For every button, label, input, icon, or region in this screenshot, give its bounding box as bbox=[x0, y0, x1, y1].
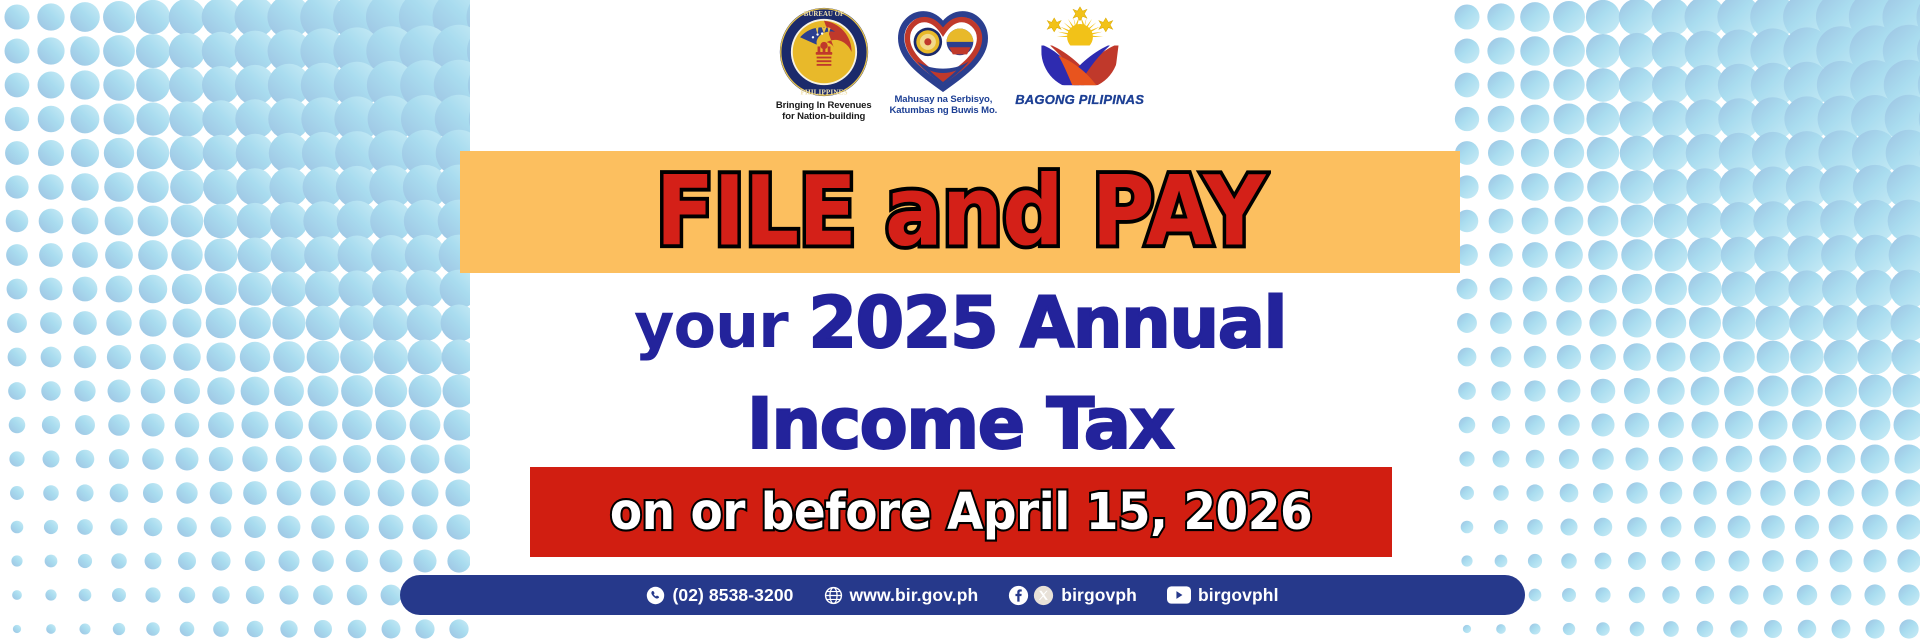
contact-social[interactable]: birgovph bbox=[1008, 585, 1137, 606]
phone-number: (02) 8538-3200 bbox=[672, 585, 793, 606]
logo-mahusay: Mahusay na Serbisyo, Katumbas ng Buwis M… bbox=[890, 6, 998, 116]
logo-bagong-pilipinas: BAGONG PILIPINAS bbox=[1015, 6, 1144, 105]
svg-text:PHILIPPINES: PHILIPPINES bbox=[800, 87, 847, 96]
social-handle: birgovph bbox=[1061, 585, 1137, 606]
bagong-pilipinas-logo bbox=[1032, 6, 1128, 92]
contact-youtube[interactable]: birgovphl bbox=[1167, 585, 1279, 606]
youtube-handle: birgovphl bbox=[1198, 585, 1279, 606]
headline-band: FILE and PAY bbox=[460, 151, 1460, 273]
headline-text: FILE and PAY bbox=[656, 164, 1265, 260]
subheading: your 2025 Annual Income Tax bbox=[0, 282, 1920, 484]
social-icon-group bbox=[1008, 585, 1054, 606]
bir-seal-logo: BUREAU OF PHILIPPINES bbox=[778, 6, 870, 98]
svg-text:BUREAU OF: BUREAU OF bbox=[804, 11, 844, 18]
logo-bir-seal: BUREAU OF PHILIPPINES Bringing In Revenu… bbox=[776, 6, 872, 122]
logo-caption-bagong-pilipinas: BAGONG PILIPINAS bbox=[1015, 94, 1144, 105]
mahusay-na-serbisyo-heart-logo bbox=[894, 6, 992, 92]
website-url: www.bir.gov.ph bbox=[850, 585, 979, 606]
subheading-year-annual: 2025 Annual bbox=[808, 282, 1286, 364]
contact-website[interactable]: www.bir.gov.ph bbox=[824, 585, 979, 606]
contact-phone[interactable]: (02) 8538-3200 bbox=[646, 585, 793, 606]
deadline-banner: on or before April 15, 2026 bbox=[530, 467, 1392, 557]
logo-caption-bir: Bringing In Revenues for Nation-building bbox=[776, 100, 872, 122]
deadline-text: on or before April 15, 2026 bbox=[610, 482, 1312, 541]
logo-caption-mahusay: Mahusay na Serbisyo, Katumbas ng Buwis M… bbox=[890, 94, 998, 116]
logo-row: BUREAU OF PHILIPPINES Bringing In Revenu… bbox=[0, 6, 1920, 122]
subheading-line-1: your 2025 Annual bbox=[0, 282, 1920, 383]
bir-announcement-banner: BUREAU OF PHILIPPINES Bringing In Revenu… bbox=[0, 0, 1920, 640]
facebook-icon[interactable] bbox=[1008, 585, 1029, 606]
subheading-income-tax: Income Tax bbox=[747, 383, 1173, 465]
globe-icon bbox=[824, 586, 843, 605]
x-twitter-icon[interactable] bbox=[1033, 585, 1054, 606]
youtube-icon bbox=[1167, 586, 1191, 604]
contact-bar: (02) 8538-3200 www.bir.gov.ph bbox=[400, 575, 1525, 615]
subheading-your: your bbox=[634, 289, 808, 362]
phone-icon bbox=[646, 586, 665, 605]
